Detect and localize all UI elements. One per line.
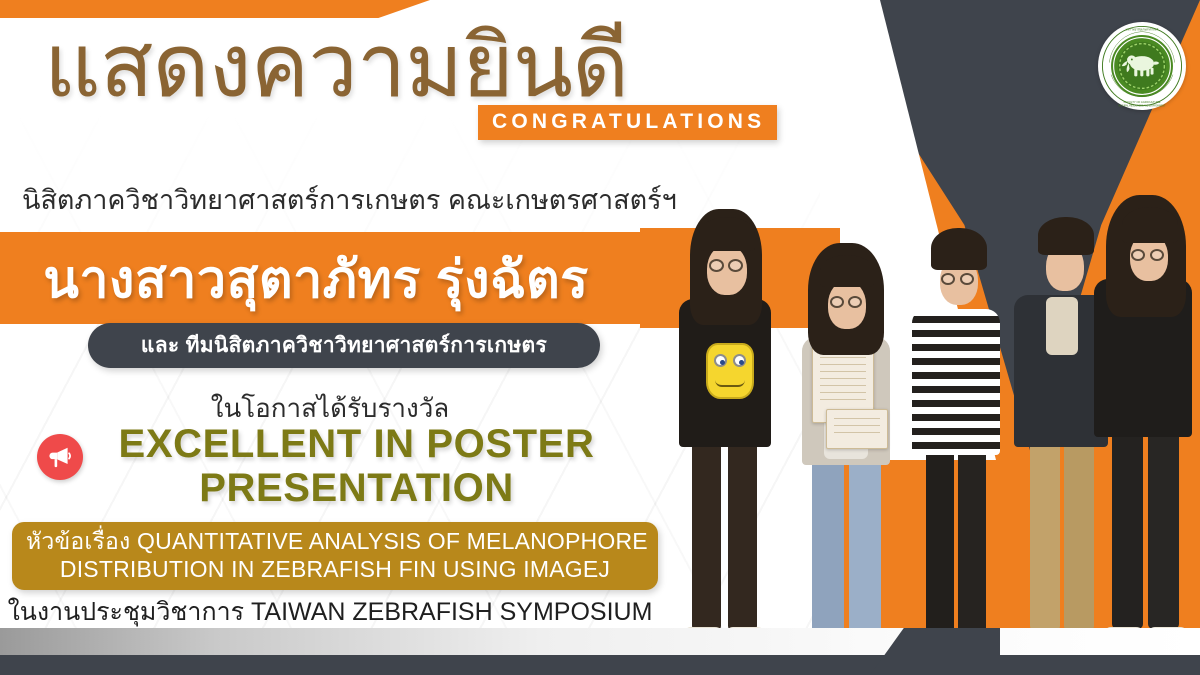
team-pill: และ ทีมนิสิตภาควิชาวิทยาศาสตร์การเกษตร <box>88 323 600 368</box>
congratulations-badge: CONGRATULATIONS <box>478 105 777 140</box>
bottom-gradient-bar <box>0 628 1200 655</box>
event-line: ในงานประชุมวิชาการ TAIWAN ZEBRAFISH SYMP… <box>8 598 653 630</box>
megaphone-icon <box>37 434 83 480</box>
event-line-wrapper: ในงานประชุมวิชาการ TAIWAN ZEBRAFISH SYMP… <box>0 592 660 632</box>
page-title: แสดงความยินดี <box>44 20 628 112</box>
person-3 <box>900 185 1012 655</box>
honoree-name: นางสาวสุตาภัทร รุ่งฉัตร <box>0 237 690 320</box>
group-photo <box>660 142 1200 655</box>
person-1 <box>666 185 784 655</box>
bottom-dark-bar <box>0 655 1200 675</box>
svg-text:FACULTY OF AGRICULTURE: FACULTY OF AGRICULTURE <box>1124 100 1161 104</box>
person-5 <box>1084 155 1200 655</box>
award-section: EXCELLENT IN POSTER PRESENTATION <box>0 422 672 510</box>
svg-text:NATURAL RESOURCES AND ENVIRONM: NATURAL RESOURCES AND ENVIRONMENT <box>1119 104 1167 107</box>
honoree-name-band: นางสาวสุตาภัทร รุ่งฉัตร <box>0 232 690 324</box>
department-line: นิสิตภาควิชาวิทยาศาสตร์การเกษตร คณะเกษตร… <box>22 178 677 221</box>
topic-line-2: DISTRIBUTION IN ZEBRAFISH FIN USING IMAG… <box>26 555 644 583</box>
university-seal-icon: มหาวิทยาลัยเกษตรศาสตร์ FACULTY OF AGRICU… <box>1098 22 1186 110</box>
award-title: EXCELLENT IN POSTER PRESENTATION <box>83 422 672 510</box>
topic-line-1: หัวข้อเรื่อง QUANTITATIVE ANALYSIS OF ME… <box>26 527 644 555</box>
person-2 <box>786 227 906 655</box>
award-title-line-2: PRESENTATION <box>83 466 630 510</box>
congratulations-poster: แสดงความยินดี CONGRATULATIONS นิสิตภาควิ… <box>0 0 1200 675</box>
team-label: และ ทีมนิสิตภาควิชาวิทยาศาสตร์การเกษตร <box>141 329 547 362</box>
topic-band: หัวข้อเรื่อง QUANTITATIVE ANALYSIS OF ME… <box>12 522 658 590</box>
award-title-line-1: EXCELLENT IN POSTER <box>83 422 630 466</box>
svg-text:มหาวิทยาลัยเกษตรศาสตร์: มหาวิทยาลัยเกษตรศาสตร์ <box>1126 28 1159 32</box>
